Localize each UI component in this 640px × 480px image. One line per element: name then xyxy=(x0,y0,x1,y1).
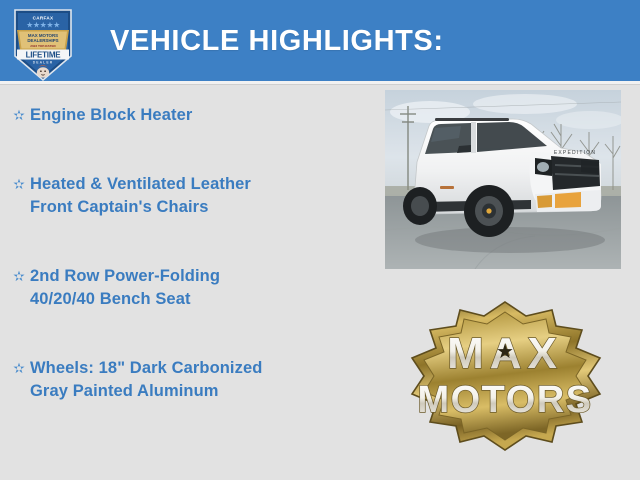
highlight-line1: Engine Block Heater xyxy=(30,106,192,124)
highlight-line1: 2nd Row Power-Folding xyxy=(30,267,220,285)
logo-line2: MOTORS xyxy=(417,379,592,421)
badge-stars: ★★★★★ xyxy=(26,21,60,30)
vehicle-highlights-list: ✫ Engine Block Heater ✫ Heated & Ventila… xyxy=(8,104,370,403)
vehicle-photo: EXPEDITION xyxy=(385,90,621,269)
logo-star-icon: ★ xyxy=(496,339,514,363)
badge-shield-icon: CARFAX ★★★★★ MAX MOTORS DEALERSHIPS 2023… xyxy=(13,6,73,82)
header-divider xyxy=(0,81,640,85)
highlight-line2: Gray Painted Aluminum xyxy=(30,380,370,403)
star-bullet-icon: ✫ xyxy=(8,265,30,288)
highlight-line2: Front Captain's Chairs xyxy=(30,196,370,219)
highlight-text: Heated & Ventilated Leather Front Captai… xyxy=(30,173,370,219)
max-motors-logo: MAX ★ MOTORS xyxy=(396,296,614,456)
vehicle-photo-image: EXPEDITION xyxy=(385,90,621,269)
list-item: ✫ 2nd Row Power-Folding 40/20/40 Bench S… xyxy=(8,265,370,311)
highlight-line2: 40/20/40 Bench Seat xyxy=(30,288,370,311)
carfax-top-rated-dealer-badge: CARFAX ★★★★★ MAX MOTORS DEALERSHIPS 2023… xyxy=(13,6,73,82)
star-bullet-icon: ✫ xyxy=(8,173,30,196)
highlight-line1: Wheels: 18" Dark Carbonized xyxy=(30,359,262,377)
badge-award-main: LIFETIME xyxy=(26,50,62,59)
front-wheel xyxy=(464,185,514,237)
svg-text:EXPEDITION: EXPEDITION xyxy=(554,150,596,156)
badge-dealer-line2: DEALERSHIPS xyxy=(27,38,58,43)
highlight-text: Wheels: 18" Dark Carbonized Gray Painted… xyxy=(30,357,370,403)
badge-award-sub: DEALER xyxy=(33,61,54,65)
star-bullet-icon: ✫ xyxy=(8,357,30,380)
list-item: ✫ Heated & Ventilated Leather Front Capt… xyxy=(8,173,370,219)
highlight-line1: Heated & Ventilated Leather xyxy=(30,175,251,193)
highlight-text: Engine Block Heater xyxy=(30,104,370,127)
highlight-text: 2nd Row Power-Folding 40/20/40 Bench Sea… xyxy=(30,265,370,311)
page-header: CARFAX ★★★★★ MAX MOTORS DEALERSHIPS 2023… xyxy=(0,0,640,81)
list-item: ✫ Engine Block Heater xyxy=(8,104,370,127)
rear-wheel xyxy=(403,187,437,225)
page-title: VEHICLE HIGHLIGHTS: xyxy=(110,24,444,58)
star-bullet-icon: ✫ xyxy=(8,104,30,127)
max-motors-logo-image: MAX ★ MOTORS xyxy=(396,296,614,456)
list-item: ✫ Wheels: 18" Dark Carbonized Gray Paint… xyxy=(8,357,370,403)
badge-award-year: 2023 TOP-RATED xyxy=(30,44,56,48)
